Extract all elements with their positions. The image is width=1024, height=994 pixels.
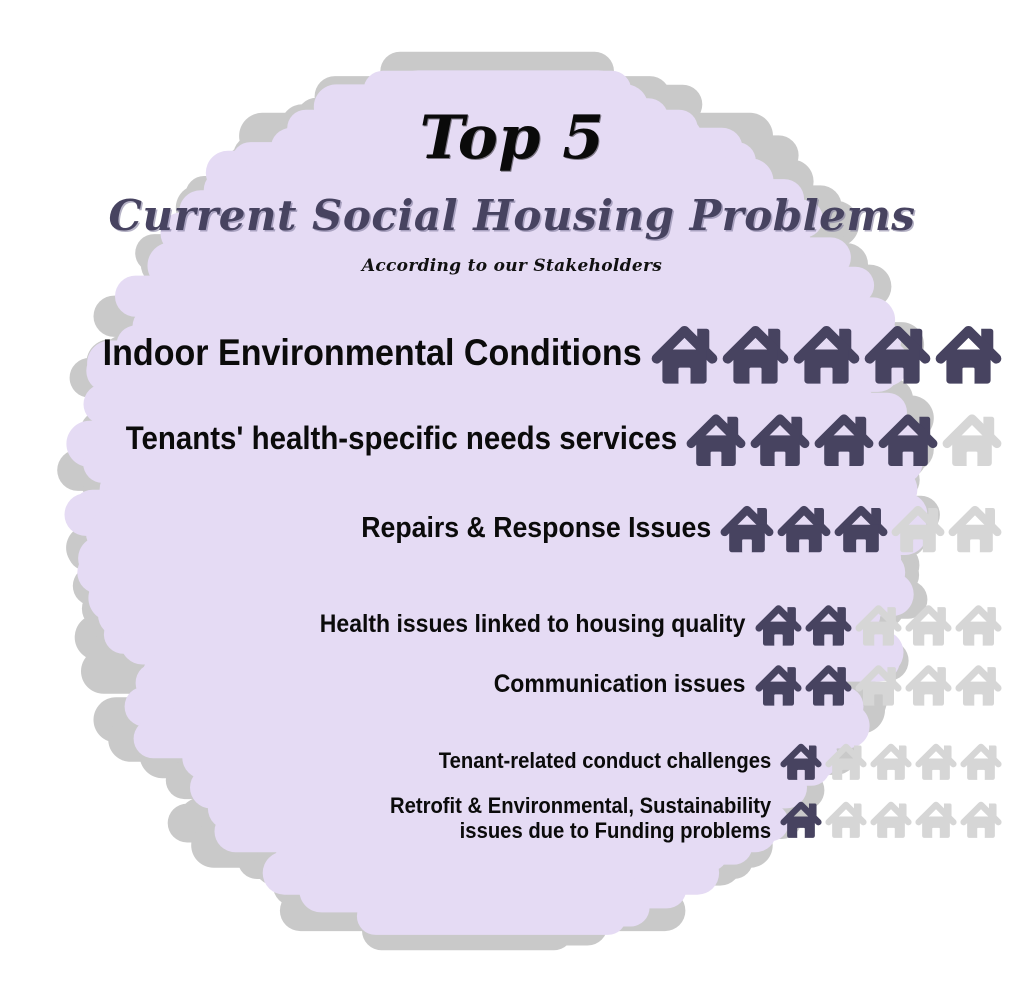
house-rating xyxy=(780,798,1002,840)
ranking-row: Communication issues xyxy=(471,658,1002,710)
ranking-row: Tenants' health-specific needs services xyxy=(77,407,1002,471)
house-empty-icon xyxy=(855,601,902,648)
row-label: Tenant-related conduct challenges xyxy=(438,749,780,774)
house-filled-icon xyxy=(686,409,746,469)
house-empty-icon xyxy=(905,601,952,648)
house-empty-icon xyxy=(855,661,902,708)
house-filled-icon xyxy=(755,601,802,648)
house-filled-icon xyxy=(878,409,938,469)
row-label: Communication issues xyxy=(494,670,755,698)
ranking-row: Tenant-related conduct challenges xyxy=(409,737,1002,785)
house-empty-icon xyxy=(942,409,1002,469)
house-empty-icon xyxy=(960,798,1002,840)
house-filled-icon xyxy=(755,661,802,708)
house-empty-icon xyxy=(955,661,1002,708)
house-empty-icon xyxy=(825,798,867,840)
house-empty-icon xyxy=(955,601,1002,648)
house-filled-icon xyxy=(777,501,831,555)
house-rating xyxy=(755,601,1002,648)
row-label: Indoor Environmental Conditions xyxy=(103,332,651,373)
house-filled-icon xyxy=(793,320,860,387)
house-empty-icon xyxy=(870,740,912,782)
house-filled-icon xyxy=(780,740,822,782)
ranking-row: Health issues linked to housing quality xyxy=(282,598,1002,650)
ranking-rows: Indoor Environmental ConditionsTenants' … xyxy=(0,0,1024,994)
house-empty-icon xyxy=(948,501,1002,555)
row-label: Health issues linked to housing quality xyxy=(320,610,755,638)
house-filled-icon xyxy=(805,661,852,708)
ranking-row: Repairs & Response Issues xyxy=(330,499,1002,557)
house-empty-icon xyxy=(915,798,957,840)
ranking-row: Indoor Environmental Conditions xyxy=(55,318,1002,388)
house-filled-icon xyxy=(814,409,874,469)
ranking-row: Retrofit & Environmental, Sustainability… xyxy=(356,790,1002,848)
house-empty-icon xyxy=(825,740,867,782)
house-filled-icon xyxy=(834,501,888,555)
house-empty-icon xyxy=(905,661,952,708)
house-filled-icon xyxy=(720,501,774,555)
house-empty-icon xyxy=(960,740,1002,782)
house-empty-icon xyxy=(891,501,945,555)
row-label: Repairs & Response Issues xyxy=(361,512,720,544)
infographic-poster: Top 5 Current Social Housing Problems Ac… xyxy=(0,0,1024,994)
house-empty-icon xyxy=(870,798,912,840)
house-rating xyxy=(780,740,1002,782)
house-filled-icon xyxy=(750,409,810,469)
house-filled-icon xyxy=(935,320,1002,387)
house-rating xyxy=(720,501,1002,555)
house-filled-icon xyxy=(651,320,718,387)
house-filled-icon xyxy=(805,601,852,648)
house-empty-icon xyxy=(915,740,957,782)
house-rating xyxy=(651,320,1002,387)
house-rating xyxy=(755,661,1002,708)
house-filled-icon xyxy=(864,320,931,387)
house-filled-icon xyxy=(780,798,822,840)
row-label: Retrofit & Environmental, Sustainability… xyxy=(390,794,780,843)
house-rating xyxy=(686,409,1002,469)
row-label: Tenants' health-specific needs services xyxy=(125,421,686,457)
house-filled-icon xyxy=(722,320,789,387)
